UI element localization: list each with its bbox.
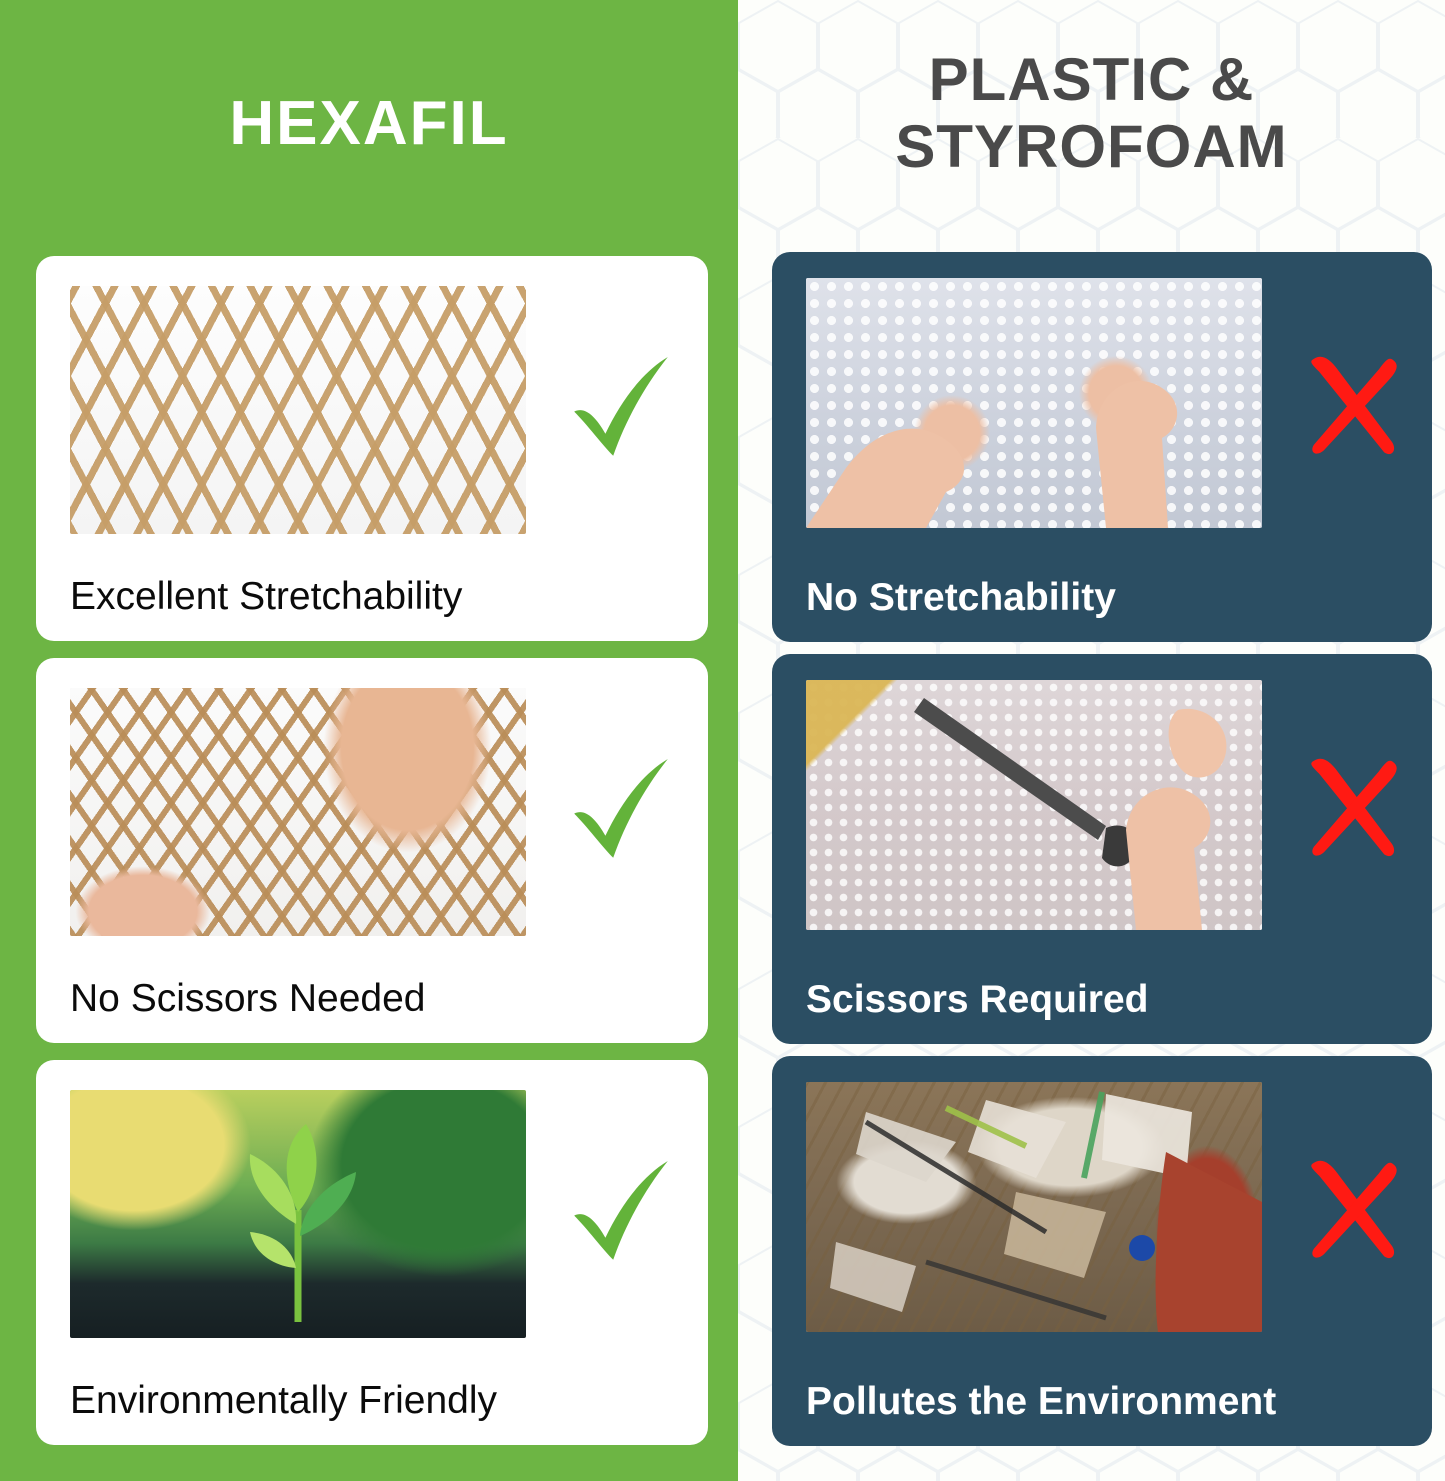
cross-mark-icon xyxy=(1288,1142,1418,1272)
feature-card-good-1[interactable]: Excellent Stretchability xyxy=(36,256,708,641)
right-heading-line-2: STYROFOAM xyxy=(738,113,1445,180)
comparison-infographic: HEXAFIL PLASTIC & STYROFOAM Excellent St… xyxy=(0,0,1445,1481)
thumbnail-plastic-litter xyxy=(806,1082,1262,1332)
check-mark-icon xyxy=(556,746,686,876)
feature-card-bad-3[interactable]: Pollutes the Environment xyxy=(772,1056,1432,1446)
feature-card-bad-2[interactable]: Scissors Required xyxy=(772,654,1432,1044)
thumbnail-scissors-cutting xyxy=(806,680,1262,930)
check-mark-icon xyxy=(556,344,686,474)
right-heading-line-1: PLASTIC & xyxy=(738,46,1445,113)
feature-label-good-2: No Scissors Needed xyxy=(70,977,696,1021)
thumbnail-hand-tearing-paper xyxy=(70,688,526,936)
feature-label-good-3: Environmentally Friendly xyxy=(70,1379,696,1423)
check-mark-icon xyxy=(556,1148,686,1278)
thumbnail-honeycomb-paper xyxy=(70,286,526,534)
feature-label-bad-3: Pollutes the Environment xyxy=(806,1380,1422,1424)
seedling-plant-icon xyxy=(70,1090,526,1338)
scissors-icon xyxy=(806,680,1262,930)
thumbnail-seedling xyxy=(70,1090,526,1338)
feature-label-good-1: Excellent Stretchability xyxy=(70,575,696,619)
feature-card-bad-1[interactable]: No Stretchability xyxy=(772,252,1432,642)
left-column-heading: HEXAFIL xyxy=(0,88,738,159)
hands-icon xyxy=(806,278,1262,528)
feature-card-good-3[interactable]: Environmentally Friendly xyxy=(36,1060,708,1445)
cross-mark-icon xyxy=(1288,338,1418,468)
thumbnail-bubble-wrap-pull xyxy=(806,278,1262,528)
feature-label-bad-2: Scissors Required xyxy=(806,978,1422,1022)
right-column-heading: PLASTIC & STYROFOAM xyxy=(738,46,1445,180)
cross-mark-icon xyxy=(1288,740,1418,870)
feature-label-bad-1: No Stretchability xyxy=(806,576,1422,620)
litter-debris-icon xyxy=(806,1082,1262,1332)
feature-card-good-2[interactable]: No Scissors Needed xyxy=(36,658,708,1043)
